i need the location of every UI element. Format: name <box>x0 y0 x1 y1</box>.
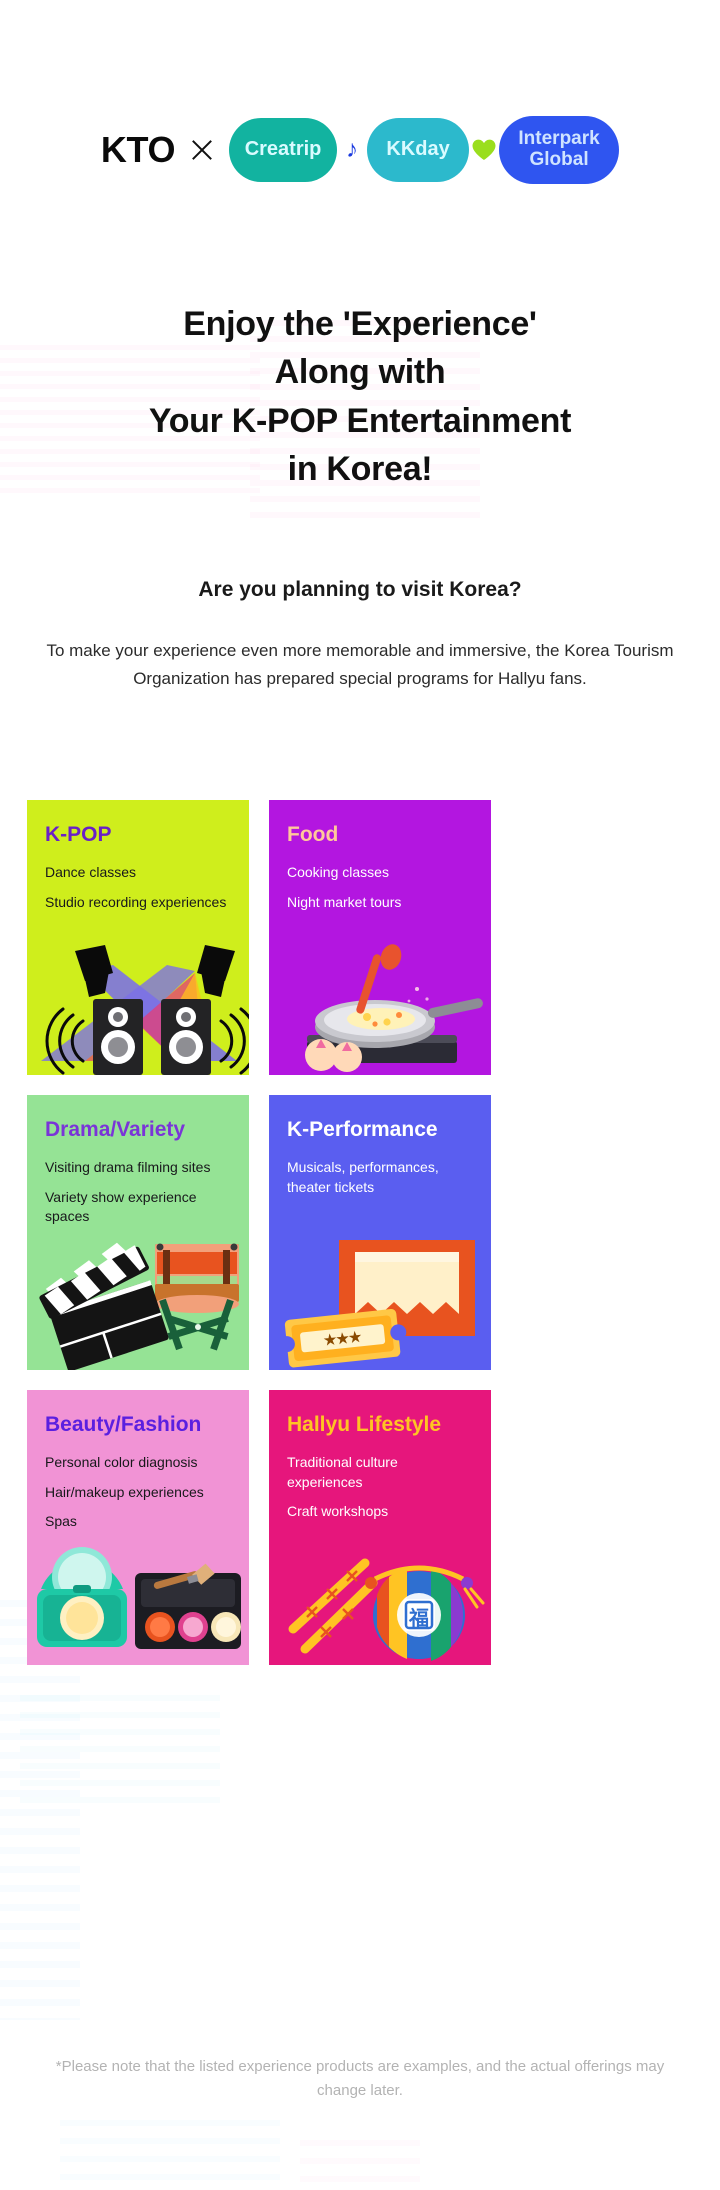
list-item: Musicals, performances, theater tickets <box>287 1158 473 1197</box>
cooking-pan-icon <box>269 943 491 1075</box>
category-card-drama-variety[interactable]: Drama/Variety Visiting drama filming sit… <box>27 1095 249 1370</box>
title-line-1: Enjoy the 'Experience' <box>183 305 536 343</box>
page-subtitle: Are you planning to visit Korea? <box>20 578 700 602</box>
list-item: Studio recording experiences <box>45 893 231 912</box>
cosmetics-palette-icon <box>27 1533 249 1665</box>
clapperboard-chair-icon <box>27 1238 249 1370</box>
card-item-list: Traditional culture experiences Craft wo… <box>287 1453 473 1521</box>
card-item-list: Cooking classes Night market tours <box>287 863 473 912</box>
title-line-3: Your K-POP Entertainment <box>149 402 571 440</box>
kto-logo: KTO <box>101 129 175 171</box>
partner-pill-creatrip[interactable]: Creatrip <box>229 118 337 182</box>
x-mark-icon <box>189 137 215 163</box>
card-item-list: Visiting drama filming sites Variety sho… <box>45 1158 231 1226</box>
list-item: Hair/makeup experiences <box>45 1483 231 1502</box>
category-card-k-performance[interactable]: K-Performance Musicals, performances, th… <box>269 1095 491 1370</box>
category-card-kpop[interactable]: K-POP Dance classes Studio recording exp… <box>27 800 249 1075</box>
list-item: Craft workshops <box>287 1502 473 1521</box>
list-item: Variety show experience spaces <box>45 1188 231 1227</box>
card-title: K-Performance <box>287 1117 473 1142</box>
page-lead-paragraph: To make your experience even more memora… <box>36 637 684 692</box>
title-line-4: in Korea! <box>288 450 433 488</box>
card-title: Food <box>287 822 473 847</box>
category-card-food[interactable]: Food Cooking classes Night market tours <box>269 800 491 1075</box>
category-card-beauty-fashion[interactable]: Beauty/Fashion Personal color diagnosis … <box>27 1390 249 1665</box>
card-title: K-POP <box>45 822 231 847</box>
list-item: Dance classes <box>45 863 231 882</box>
card-item-list: Dance classes Studio recording experienc… <box>45 863 231 912</box>
list-item: Cooking classes <box>287 863 473 882</box>
partner-label-interpark: Interpark Global <box>518 129 599 170</box>
ghost-artifact <box>300 2140 420 2190</box>
category-card-hallyu-lifestyle[interactable]: Hallyu Lifestyle Traditional culture exp… <box>269 1390 491 1665</box>
list-item: Personal color diagnosis <box>45 1453 231 1472</box>
music-note-icon: ♪ <box>337 135 367 165</box>
partner-label-kkday: KKday <box>386 139 449 161</box>
page-title: Enjoy the 'Experience' Along with Your K… <box>20 300 700 493</box>
card-item-list: Personal color diagnosis Hair/makeup exp… <box>45 1453 231 1531</box>
ghost-artifact <box>60 2120 280 2190</box>
partner-pill-kkday[interactable]: KKday <box>367 118 469 182</box>
poster-page: KTO Creatrip ♪ KKday Interpark Global En… <box>0 0 720 2190</box>
svg-text:福: 福 <box>408 1606 429 1630</box>
ticket-stage-icon: ★★★ <box>269 1238 491 1370</box>
heart-icon <box>469 135 499 165</box>
card-item-list: Musicals, performances, theater tickets <box>287 1158 473 1197</box>
partner-logo-row: KTO Creatrip ♪ KKday Interpark Global <box>0 108 720 192</box>
partner-label-creatrip: Creatrip <box>245 139 322 161</box>
ghost-artifact <box>20 1695 220 1805</box>
category-card-grid: K-POP Dance classes Studio recording exp… <box>27 800 693 1665</box>
partner-pill-interpark[interactable]: Interpark Global <box>499 116 619 184</box>
card-title: Beauty/Fashion <box>45 1412 231 1437</box>
title-line-2: Along with <box>275 353 446 391</box>
list-item: Traditional culture experiences <box>287 1453 473 1492</box>
card-title: Drama/Variety <box>45 1117 231 1142</box>
norigae-lantern-icon: 福 <box>269 1533 491 1665</box>
list-item: Night market tours <box>287 893 473 912</box>
list-item: Spas <box>45 1512 231 1531</box>
card-title: Hallyu Lifestyle <box>287 1412 473 1437</box>
list-item: Visiting drama filming sites <box>45 1158 231 1177</box>
footer-disclaimer: *Please note that the listed experience … <box>40 2055 680 2104</box>
stage-speakers-icon <box>27 943 249 1075</box>
